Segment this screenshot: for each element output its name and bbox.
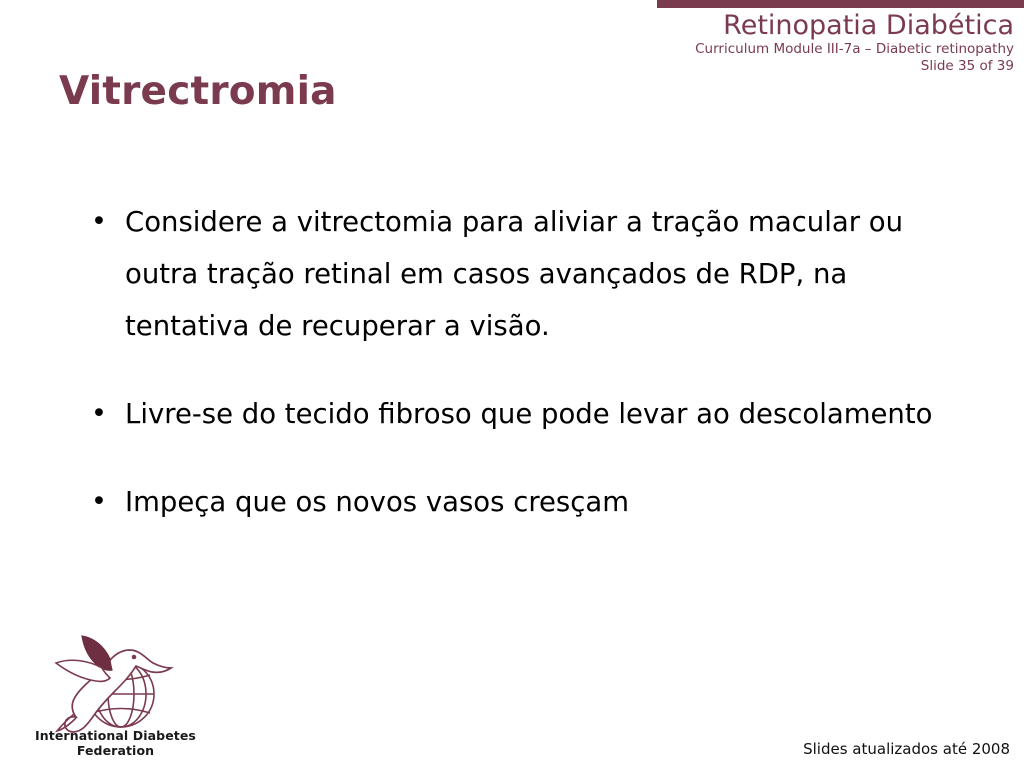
list-item-text: Impeça que os novos vasos cresçam [125,476,955,528]
list-item-text: Livre-se do tecido fibroso que pode leva… [125,388,955,440]
footer-note: Slides atualizados até 2008 [803,740,1010,758]
bullet-marker-icon: • [86,196,125,248]
list-item-text: Considere a vitrectomia para aliviar a t… [125,196,955,352]
header-title: Retinopatia Diabética [494,10,1014,41]
list-item: • Impeça que os novos vasos cresçam [86,476,966,528]
bullet-list: • Considere a vitrectomia para aliviar a… [86,196,966,528]
list-item: • Livre-se do tecido fibroso que pode le… [86,388,966,440]
header-slide-number: Slide 35 of 39 [494,58,1014,75]
header-accent-rule [657,0,1024,8]
page-title: Vitrectromia [59,69,337,114]
header-subtitle: Curriculum Module III-7a – Diabetic reti… [494,41,1014,58]
slide-header: Retinopatia Diabética Curriculum Module … [494,10,1014,75]
hummingbird-globe-icon [26,632,176,736]
list-item: • Considere a vitrectomia para aliviar a… [86,196,966,352]
idf-logo-caption: International Diabetes Federation [8,728,223,758]
bullet-marker-icon: • [86,476,125,528]
idf-logo: International Diabetes Federation [8,632,223,760]
bullet-marker-icon: • [86,388,125,440]
